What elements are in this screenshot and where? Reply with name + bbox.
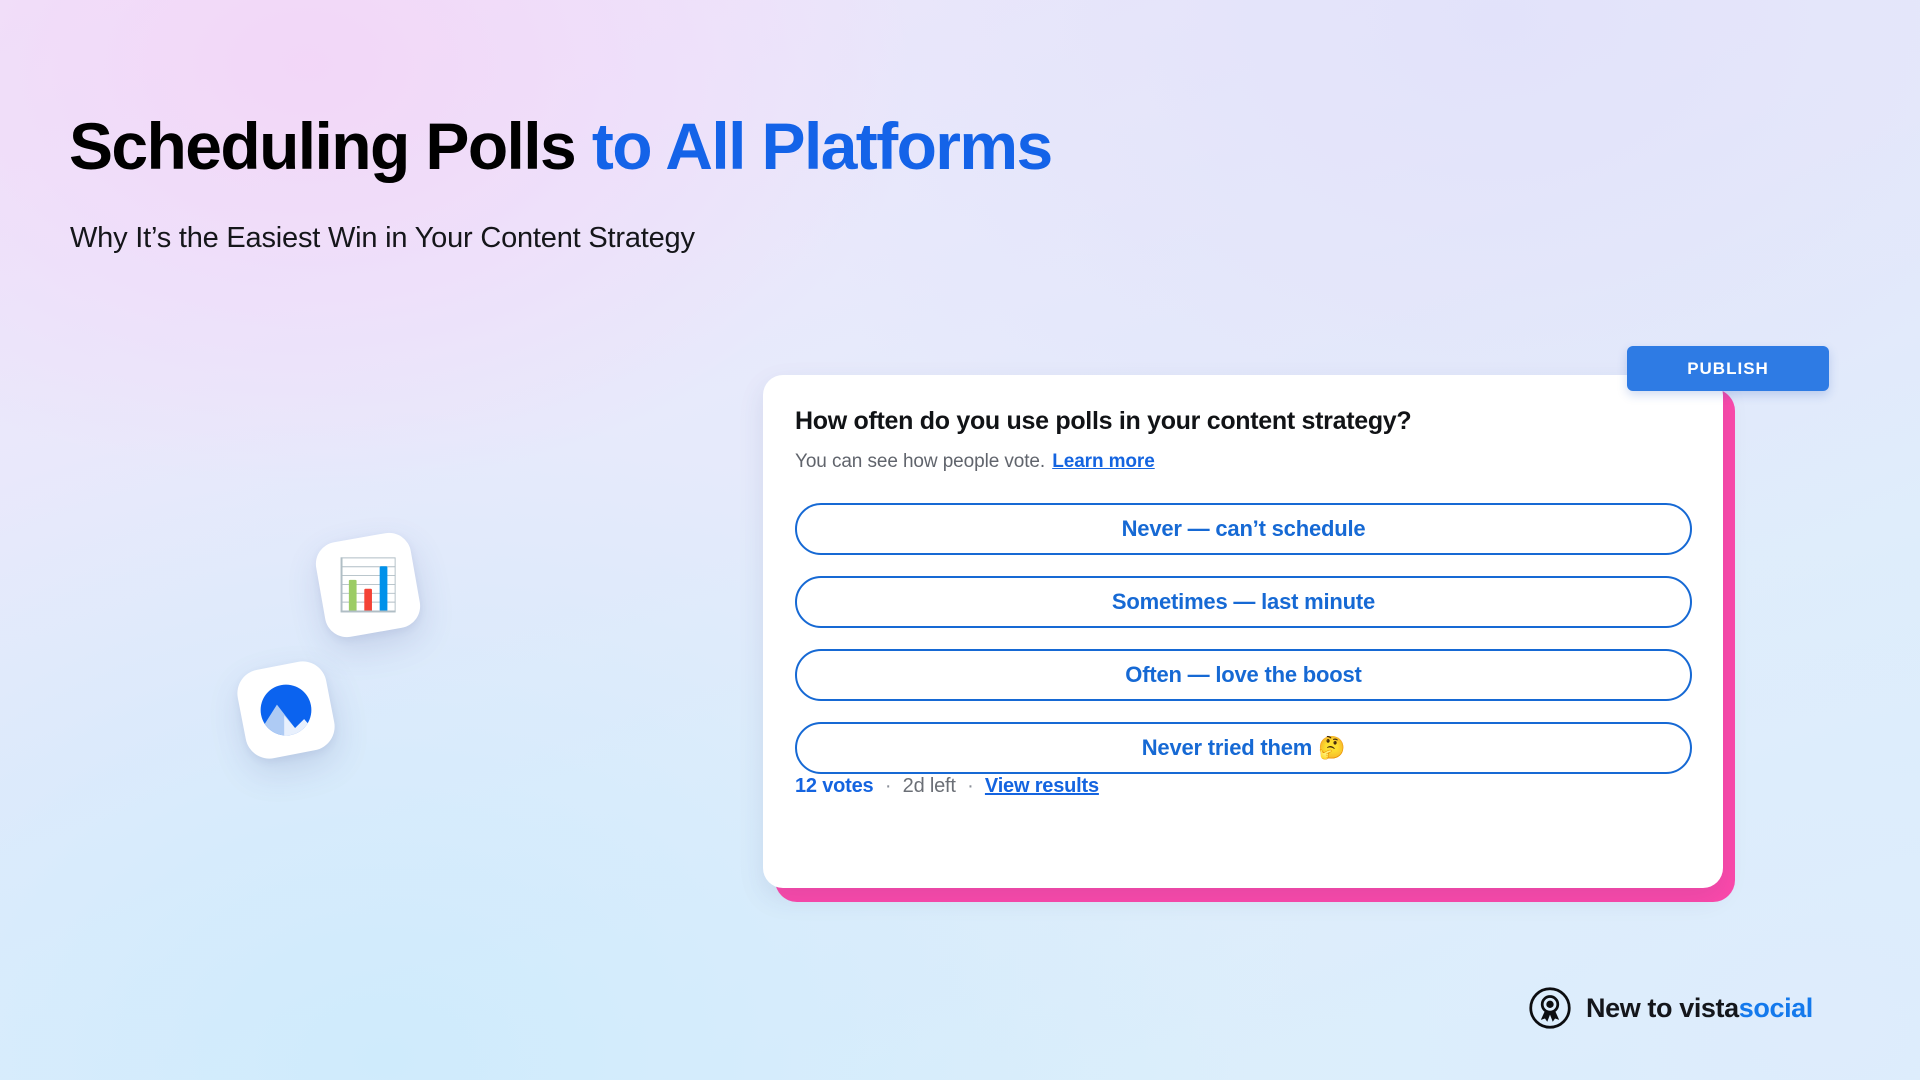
brand-name-blue: social	[1739, 993, 1813, 1023]
vista-social-tile	[233, 657, 339, 763]
publish-button[interactable]: PUBLISH	[1627, 346, 1829, 391]
award-badge-icon	[1528, 986, 1572, 1030]
poll-vote-count: 12 votes	[795, 775, 873, 797]
view-results-link[interactable]: View results	[985, 775, 1099, 797]
brand-footer: New to vistasocial	[1528, 986, 1813, 1030]
poll-option-3[interactable]: Often — love the boost	[795, 649, 1692, 701]
brand-name-dark: vista	[1679, 993, 1739, 1023]
brand-prefix: New to	[1586, 993, 1679, 1023]
poll-question: How often do you use polls in your conte…	[795, 407, 1411, 436]
poll-card: How often do you use polls in your conte…	[763, 375, 1723, 888]
poll-card-wrapper: How often do you use polls in your conte…	[763, 375, 1723, 888]
page-title: Scheduling Polls to All Platforms	[69, 112, 1052, 181]
poll-option-4[interactable]: Never tried them 🤔	[795, 722, 1692, 774]
brand-label: New to vistasocial	[1586, 993, 1813, 1024]
vista-social-logo-icon	[257, 681, 315, 739]
poll-options-list: Never — can’t schedule Sometimes — last …	[795, 503, 1692, 774]
poll-option-2[interactable]: Sometimes — last minute	[795, 576, 1692, 628]
bar-chart-icon: 📊	[337, 560, 399, 610]
page-subtitle: Why It’s the Easiest Win in Your Content…	[70, 222, 695, 255]
meta-separator-1: ·	[885, 775, 891, 797]
poll-visibility-text: You can see how people vote.	[795, 451, 1045, 472]
poll-time-left: 2d left	[903, 775, 956, 797]
meta-separator-2: ·	[967, 775, 973, 797]
page-title-primary: Scheduling Polls	[69, 109, 575, 183]
poll-visibility-note: You can see how people vote. Learn more	[795, 451, 1155, 473]
poll-option-1[interactable]: Never — can’t schedule	[795, 503, 1692, 555]
bar-chart-tile: 📊	[312, 529, 423, 640]
page-title-accent: to All Platforms	[592, 109, 1052, 183]
learn-more-link[interactable]: Learn more	[1052, 451, 1154, 472]
poll-meta: 12 votes · 2d left · View results	[795, 775, 1099, 798]
